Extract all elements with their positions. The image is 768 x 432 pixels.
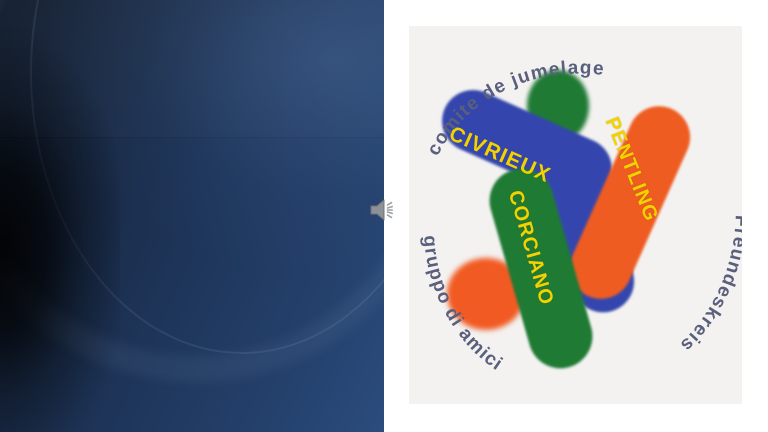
- presentation-slide: Freundeskreis Corciano – Civrieux d‘Azer…: [0, 0, 768, 432]
- logo-arc-left-text: gruppo di amici: [419, 235, 507, 376]
- logo-arc-right-textpath: Freundeskreis: [675, 214, 742, 356]
- logo-arc-top-text: comite de jumelage: [423, 57, 606, 158]
- logo-arc-right-text: Freundeskreis: [675, 214, 742, 356]
- speaker-icon[interactable]: [370, 197, 398, 223]
- logo-arc-top-textpath: comite de jumelage: [423, 57, 606, 158]
- slide-background-panel: [0, 0, 384, 432]
- logo-arc-text-group: comite de jumelage gruppo di amici Freun…: [409, 26, 742, 404]
- background-highlight-glow: [0, 0, 384, 432]
- logo-stage: CIVRIEUX PENTLING CORCIANO comite de jum…: [409, 26, 742, 404]
- background-swoosh-decoration: [0, 0, 384, 382]
- background-vignette-shadow: [0, 0, 120, 432]
- subtitle-line-1: Jahresrückblick 2025: [416, 427, 736, 432]
- background-band-top: [0, 0, 384, 137]
- background-band-seam: [0, 137, 384, 138]
- background-swoosh-outline: [30, 0, 384, 354]
- logo-arc-left-textpath: gruppo di amici: [419, 235, 507, 376]
- logo-image[interactable]: CIVRIEUX PENTLING CORCIANO comite de jum…: [409, 26, 742, 404]
